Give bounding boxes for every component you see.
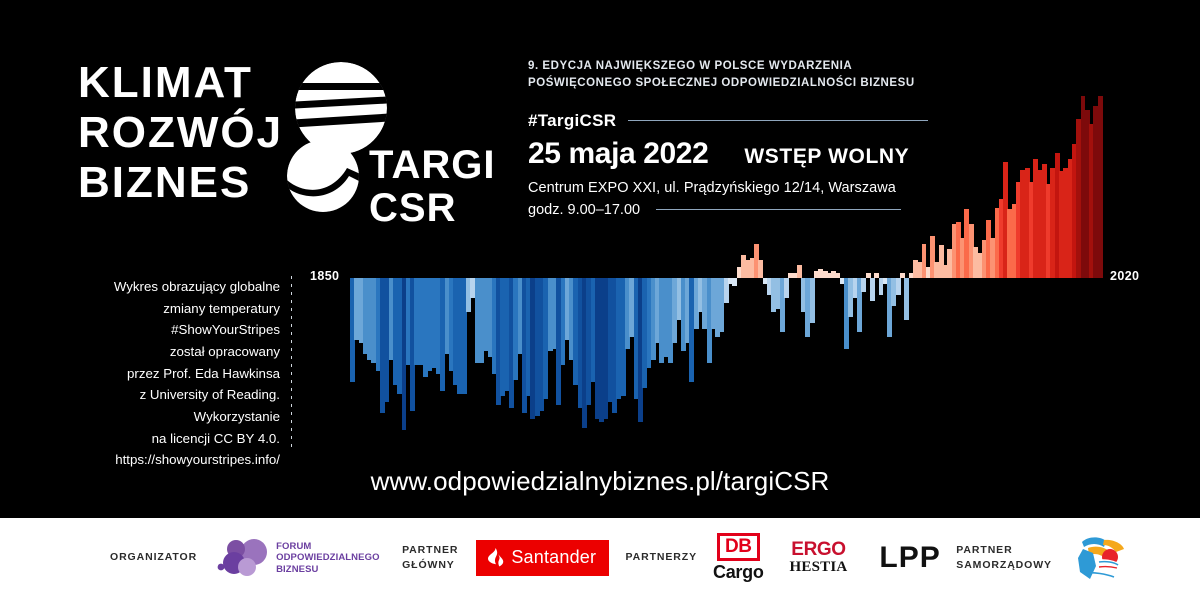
hestia-wordmark: HESTIA [790, 559, 848, 576]
stripe-bar [758, 260, 763, 278]
stripe-bar [861, 278, 866, 292]
lpp-logo[interactable]: LPP [879, 541, 940, 575]
caption-line-6: z University of Reading. [58, 384, 280, 406]
warming-stripes-chart [350, 62, 1102, 462]
local-partner-label: PARTNER SAMORZĄDOWY [956, 543, 1052, 573]
caption-line-8: na licencji CC BY 4.0. [58, 428, 280, 450]
main-partner-label-line-1: PARTNER [402, 543, 458, 558]
warsaw-mermaid-icon [1066, 532, 1128, 584]
stripe-bar [810, 278, 815, 323]
stripe-bar [896, 278, 901, 295]
partners-label: PARTNERZY [626, 550, 698, 565]
ergo-hestia-logo[interactable]: ERGO HESTIA [790, 540, 848, 576]
db-wordmark: DB [717, 533, 759, 561]
caption-line-1: Wykres obrazujący globalne [58, 276, 280, 298]
ergo-wordmark: ERGO [790, 540, 848, 559]
stripe-bar [870, 278, 875, 301]
warsaw-city-logo[interactable] [1066, 532, 1090, 584]
cargo-wordmark: Cargo [713, 562, 764, 583]
santander-wordmark: Santander [511, 547, 596, 568]
santander-logo[interactable]: Santander [476, 540, 609, 576]
stripe-bar [1098, 96, 1103, 278]
stripes-plot-area [350, 62, 1102, 462]
caption-line-4: został opracowany [58, 341, 280, 363]
headline-line-2: ROZWÓJ [78, 108, 283, 158]
chart-credit-caption: Wykres obrazujący globalne zmiany temper… [58, 276, 280, 471]
local-partner-label-line-2: SAMORZĄDOWY [956, 558, 1052, 573]
stripe-bar [784, 278, 789, 298]
forum-odpowiedzialnego-biznesu-logo[interactable]: FORUM ODPOWIEDZIALNEGO BIZNESU [213, 538, 379, 578]
santander-flame-icon [487, 548, 504, 567]
caption-line-3: #ShowYourStripes [58, 319, 280, 341]
page-title: KLIMAT ROZWÓJ BIZNES [78, 58, 283, 208]
sponsor-bar: ORGANIZATOR FORUM ODPOWIEDZIALNEGO BIZNE… [0, 518, 1200, 598]
caption-line-5: przez Prof. Eda Hawkinsa [58, 363, 280, 385]
axis-label-end-year: 2020 [1110, 269, 1139, 283]
caption-line-2: zmiany temperatury [58, 298, 280, 320]
local-partner-label-line-1: PARTNER [956, 543, 1052, 558]
fob-line-2: ODPOWIEDZIALNEGO [276, 552, 379, 564]
db-cargo-logo[interactable]: DB Cargo [713, 533, 764, 583]
main-partner-label: PARTNER GŁÓWNY [402, 543, 458, 573]
fob-circles-icon [213, 538, 275, 578]
headline-line-1: KLIMAT [78, 58, 283, 108]
axis-label-start-year: 1850 [310, 269, 339, 283]
fob-wordmark: FORUM ODPOWIEDZIALNEGO BIZNESU [276, 541, 379, 576]
dotted-divider [291, 276, 292, 448]
swoosh-sphere-icon [287, 140, 359, 212]
organizer-label: ORGANIZATOR [110, 550, 197, 565]
fob-line-1: FORUM [276, 541, 379, 553]
headline-line-3: BIZNES [78, 158, 283, 208]
stripe-bar [732, 278, 737, 286]
poster: KLIMAT ROZWÓJ BIZNES [0, 0, 1200, 598]
main-partner-label-line-2: GŁÓWNY [402, 558, 458, 573]
stripe-bar [904, 278, 909, 320]
website-url[interactable]: www.odpowiedzialnybiznes.pl/targiCSR [0, 466, 1200, 497]
stripe-bar [797, 265, 802, 278]
caption-line-7: Wykorzystanie [58, 406, 280, 428]
fob-line-3: BIZNESU [276, 564, 379, 576]
